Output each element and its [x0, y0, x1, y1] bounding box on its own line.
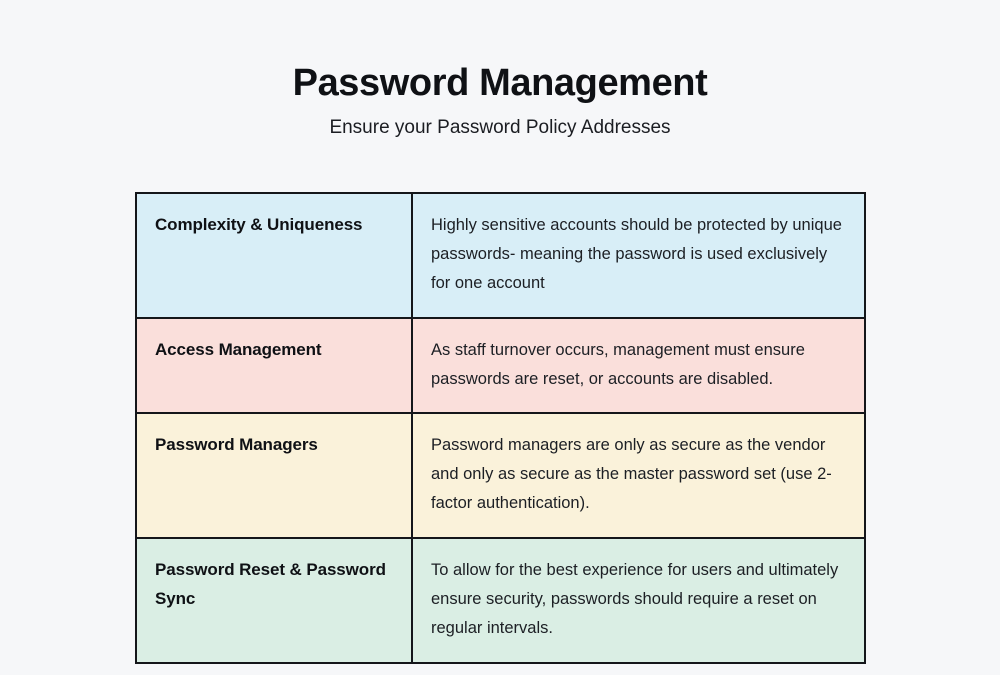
row-label-cell: Password Reset & Password Sync: [136, 538, 412, 663]
row-description-cell: Password managers are only as secure as …: [412, 413, 865, 538]
table-row: Password Managers Password managers are …: [136, 413, 865, 538]
table-row: Complexity & Uniqueness Highly sensitive…: [136, 193, 865, 318]
table-row: Password Reset & Password Sync To allow …: [136, 538, 865, 663]
row-description-cell: To allow for the best experience for use…: [412, 538, 865, 663]
page-subtitle: Ensure your Password Policy Addresses: [0, 117, 1000, 140]
row-description-cell: As staff turnover occurs, management mus…: [412, 318, 865, 414]
slide-canvas: Password Management Ensure your Password…: [0, 0, 1000, 675]
row-label-cell: Access Management: [136, 318, 412, 414]
row-label-cell: Password Managers: [136, 413, 412, 538]
heading-block: Password Management Ensure your Password…: [0, 62, 1000, 139]
row-label-cell: Complexity & Uniqueness: [136, 193, 412, 318]
page-title: Password Management: [0, 62, 1000, 106]
table-row: Access Management As staff turnover occu…: [136, 318, 865, 414]
password-policy-table: Complexity & Uniqueness Highly sensitive…: [135, 192, 866, 664]
row-description-cell: Highly sensitive accounts should be prot…: [412, 193, 865, 318]
